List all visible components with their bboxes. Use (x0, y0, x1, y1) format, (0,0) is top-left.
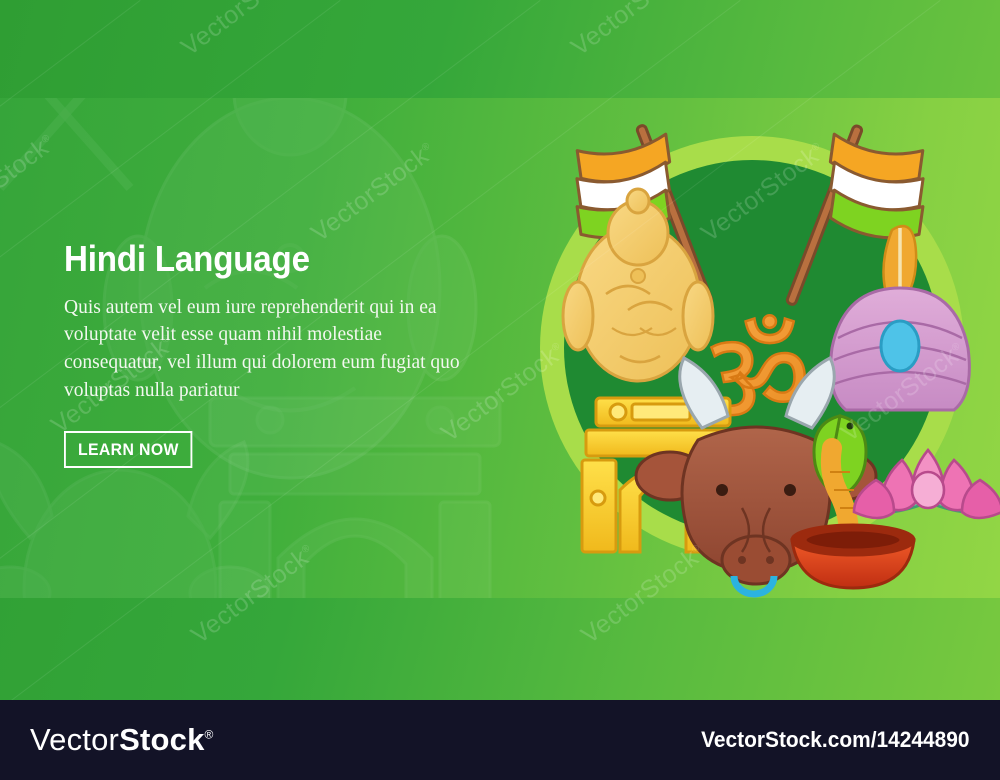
stock-image-url: VectorStock.com/14244890 (702, 727, 970, 753)
page-title: Hindi Language (64, 240, 450, 278)
brand-prefix: Vector (30, 722, 119, 757)
registered-mark-icon: ® (205, 728, 214, 742)
vectorstock-logo: VectorStock® (30, 722, 214, 758)
stock-image-page: ॐ (0, 0, 1000, 780)
banner-text-column: Hindi Language Quis autem vel eum iure r… (64, 240, 484, 468)
stock-footer-bar: VectorStock® VectorStock.com/14244890 (0, 700, 1000, 780)
watermark-text: VectorStock® (566, 0, 701, 62)
brand-suffix: Stock (119, 722, 204, 757)
illustration-cluster: ॐ (520, 98, 1000, 598)
banner-artwork: ॐ (0, 0, 1000, 700)
watermark-text: VectorStock® (176, 0, 311, 62)
banner-body-text: Quis autem vel eum iure reprehenderit qu… (64, 294, 464, 405)
learn-now-button[interactable]: LEARN NOW (64, 431, 193, 468)
